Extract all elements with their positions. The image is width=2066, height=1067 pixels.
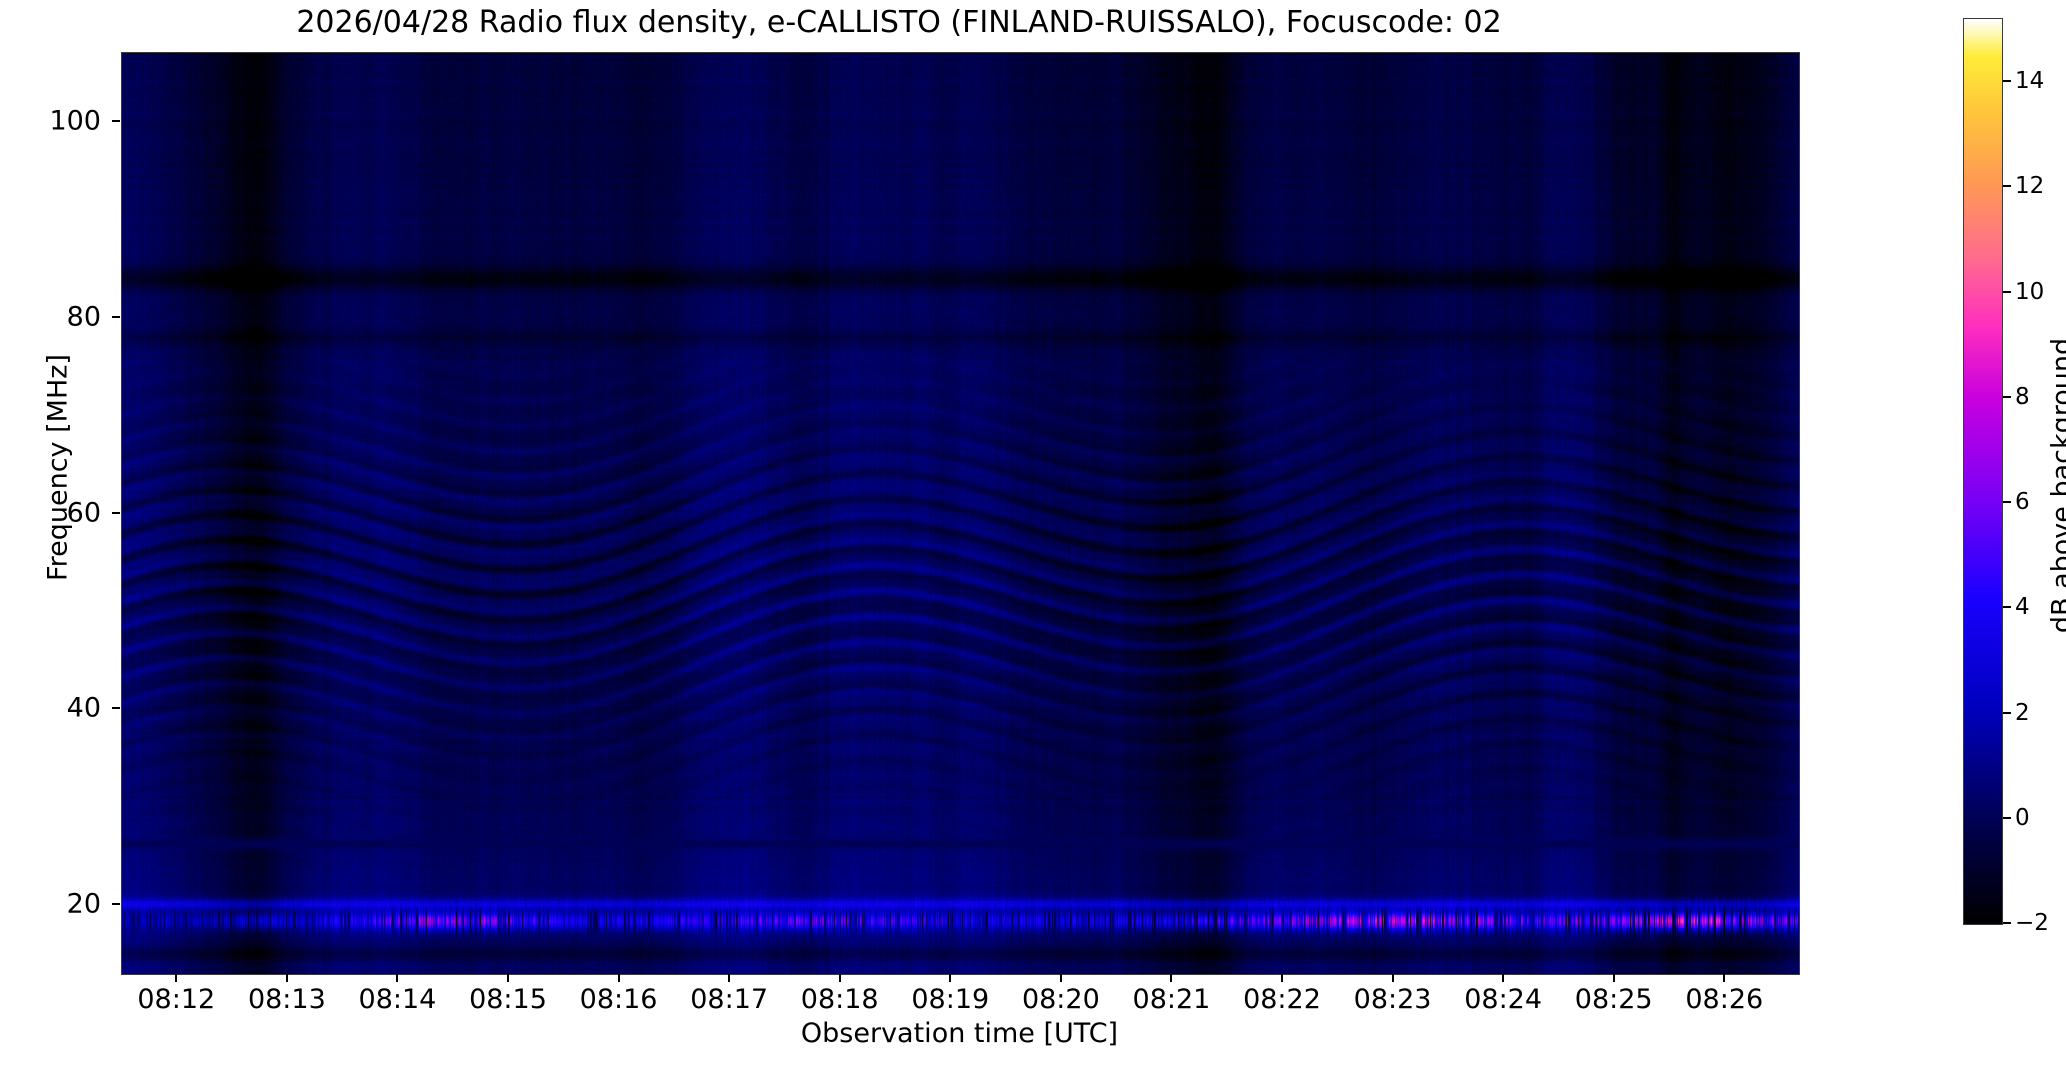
x-tick-label: 08:19 bbox=[911, 984, 989, 1015]
spectrogram-image bbox=[122, 53, 1799, 974]
y-tick-label: 20 bbox=[1, 889, 101, 920]
x-tick-label: 08:26 bbox=[1685, 984, 1763, 1015]
y-tick-label: 80 bbox=[1, 301, 101, 332]
colorbar-tick-mark bbox=[2003, 712, 2011, 714]
x-tick-mark bbox=[1392, 974, 1394, 982]
x-tick-label: 08:20 bbox=[1022, 984, 1100, 1015]
x-tick-mark bbox=[1723, 974, 1725, 982]
spectrogram-plot-area bbox=[121, 52, 1800, 975]
colorbar-tick-label: −2 bbox=[2015, 910, 2049, 936]
colorbar-tick-mark bbox=[2003, 80, 2011, 82]
y-tick-mark bbox=[112, 120, 120, 122]
colorbar-tick-label: 14 bbox=[2015, 68, 2044, 94]
x-tick-mark bbox=[1502, 974, 1504, 982]
x-tick-mark bbox=[286, 974, 288, 982]
x-tick-mark bbox=[1613, 974, 1615, 982]
spectrogram-figure: 2026/04/28 Radio flux density, e-CALLIST… bbox=[0, 0, 2066, 1067]
x-tick-mark bbox=[949, 974, 951, 982]
colorbar-tick-mark bbox=[2003, 501, 2011, 503]
x-tick-mark bbox=[1170, 974, 1172, 982]
colorbar-tick-label: 8 bbox=[2015, 384, 2030, 410]
y-tick-mark bbox=[112, 316, 120, 318]
x-tick-label: 08:23 bbox=[1354, 984, 1432, 1015]
x-tick-mark bbox=[396, 974, 398, 982]
colorbar-tick-label: 2 bbox=[2015, 700, 2030, 726]
colorbar-label: dB above background bbox=[2047, 226, 2066, 746]
y-tick-label: 100 bbox=[1, 105, 101, 136]
x-tick-mark bbox=[507, 974, 509, 982]
x-tick-label: 08:14 bbox=[359, 984, 437, 1015]
colorbar-tick-mark bbox=[2003, 291, 2011, 293]
x-axis-label: Observation time [UTC] bbox=[121, 1018, 1798, 1049]
x-tick-label: 08:21 bbox=[1133, 984, 1211, 1015]
colorbar-tick-mark bbox=[2003, 817, 2011, 819]
colorbar bbox=[1963, 18, 2003, 925]
x-tick-label: 08:12 bbox=[137, 984, 215, 1015]
colorbar-gradient bbox=[1964, 19, 2002, 924]
x-tick-mark bbox=[839, 974, 841, 982]
x-tick-label: 08:25 bbox=[1575, 984, 1653, 1015]
x-tick-label: 08:13 bbox=[248, 984, 326, 1015]
y-tick-label: 40 bbox=[1, 693, 101, 724]
colorbar-tick-mark bbox=[2003, 606, 2011, 608]
x-tick-label: 08:16 bbox=[580, 984, 658, 1015]
x-tick-label: 08:18 bbox=[801, 984, 879, 1015]
x-tick-label: 08:15 bbox=[469, 984, 547, 1015]
x-tick-mark bbox=[175, 974, 177, 982]
colorbar-tick-label: 12 bbox=[2015, 173, 2044, 199]
y-tick-mark bbox=[112, 707, 120, 709]
colorbar-tick-mark bbox=[2003, 185, 2011, 187]
colorbar-tick-label: 10 bbox=[2015, 279, 2044, 305]
x-tick-mark bbox=[618, 974, 620, 982]
y-tick-label: 60 bbox=[1, 497, 101, 528]
y-axis-label: Frequency [MHz] bbox=[43, 188, 74, 748]
colorbar-tick-label: 6 bbox=[2015, 489, 2030, 515]
colorbar-tick-mark bbox=[2003, 396, 2011, 398]
page-title: 2026/04/28 Radio flux density, e-CALLIST… bbox=[0, 5, 1798, 40]
colorbar-tick-label: 4 bbox=[2015, 594, 2030, 620]
x-tick-label: 08:17 bbox=[690, 984, 768, 1015]
x-tick-mark bbox=[1281, 974, 1283, 982]
x-tick-mark bbox=[728, 974, 730, 982]
x-tick-mark bbox=[1060, 974, 1062, 982]
y-tick-mark bbox=[112, 903, 120, 905]
x-tick-label: 08:24 bbox=[1464, 984, 1542, 1015]
colorbar-tick-label: 0 bbox=[2015, 805, 2030, 831]
colorbar-tick-mark bbox=[2003, 922, 2011, 924]
y-tick-mark bbox=[112, 512, 120, 514]
x-tick-label: 08:22 bbox=[1243, 984, 1321, 1015]
